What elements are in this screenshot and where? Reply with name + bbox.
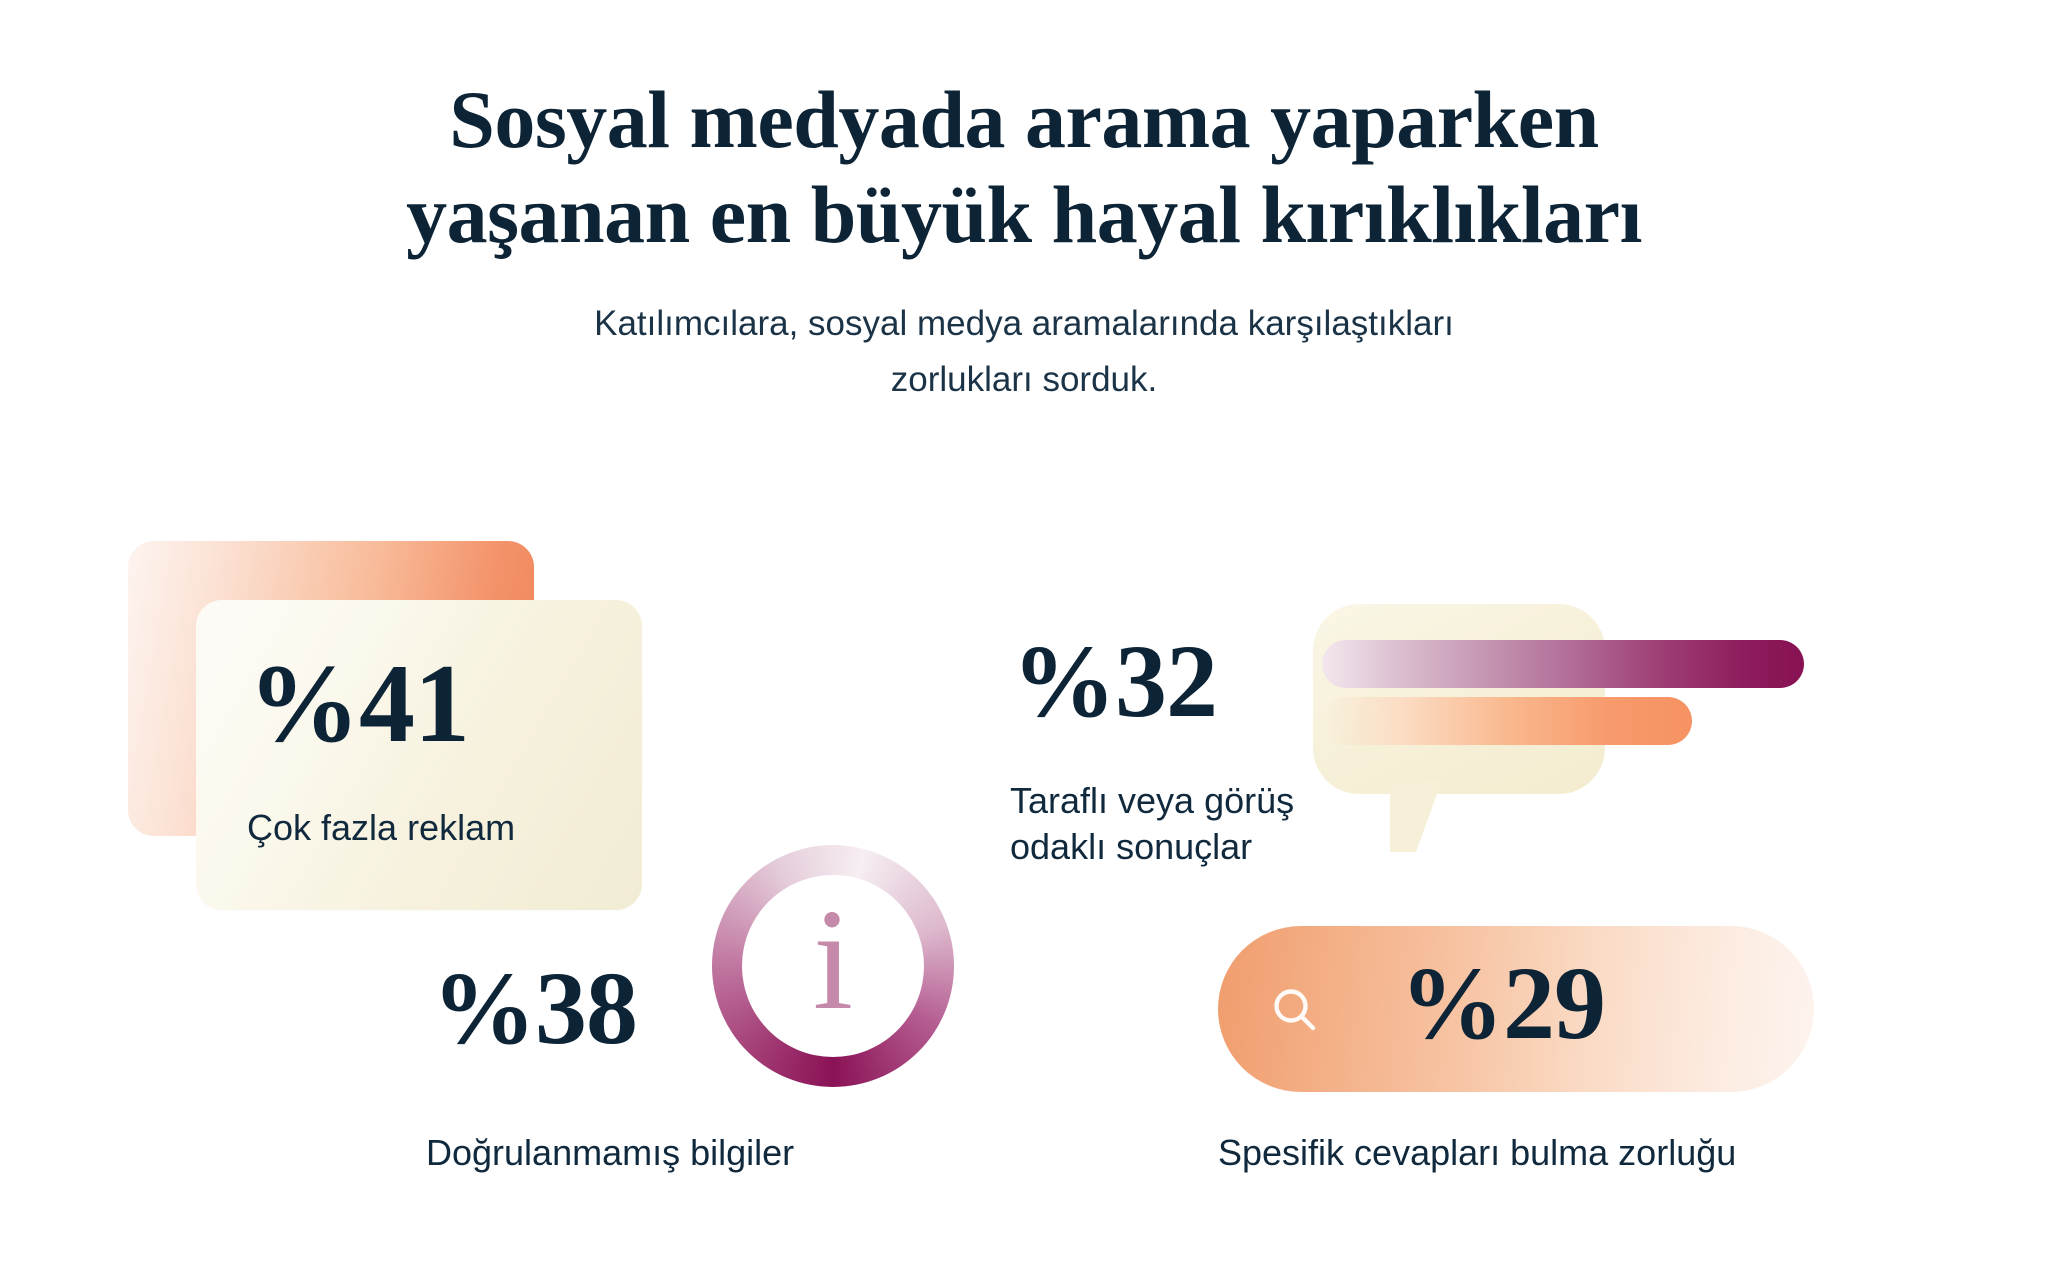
info-icon-glyph: i	[813, 888, 853, 1033]
stat-value-unverified-info: %38	[432, 957, 637, 1061]
stat-label-unverified-info: Doğrulanmamış bilgiler	[426, 1130, 794, 1175]
header: Sosyal medyada arama yaparken yaşanan en…	[0, 0, 2048, 408]
stat-value-too-many-ads: %41	[248, 648, 469, 760]
stat-label-too-many-ads: Çok fazla reklam	[247, 805, 515, 850]
info-icon: i	[712, 845, 954, 1087]
stat-label-biased-results: Taraflı veya görüş odaklı sonuçlar	[1010, 778, 1294, 870]
page-title-line-1: Sosyal medyada arama yaparken	[0, 72, 2048, 167]
page-subtitle-line-1: Katılımcılara, sosyal medya aramalarında…	[0, 296, 2048, 352]
speech-bubble-tail	[1390, 780, 1442, 852]
page-title: Sosyal medyada arama yaparken yaşanan en…	[0, 0, 2048, 262]
stat-value-biased-results: %32	[1012, 630, 1217, 734]
bubble-bar-orange	[1322, 697, 1692, 745]
search-icon	[1270, 985, 1320, 1035]
stat-value-specific-answers: %29	[1400, 952, 1605, 1056]
page-subtitle-line-2: zorlukları sorduk.	[0, 352, 2048, 408]
page-title-line-2: yaşanan en büyük hayal kırıklıkları	[0, 167, 2048, 262]
infographic-page: Sosyal medyada arama yaparken yaşanan en…	[0, 0, 2048, 1283]
stat-label-specific-answers: Spesifik cevapları bulma zorluğu	[1218, 1130, 1736, 1175]
page-subtitle: Katılımcılara, sosyal medya aramalarında…	[0, 262, 2048, 408]
bubble-bar-purple	[1322, 640, 1804, 688]
